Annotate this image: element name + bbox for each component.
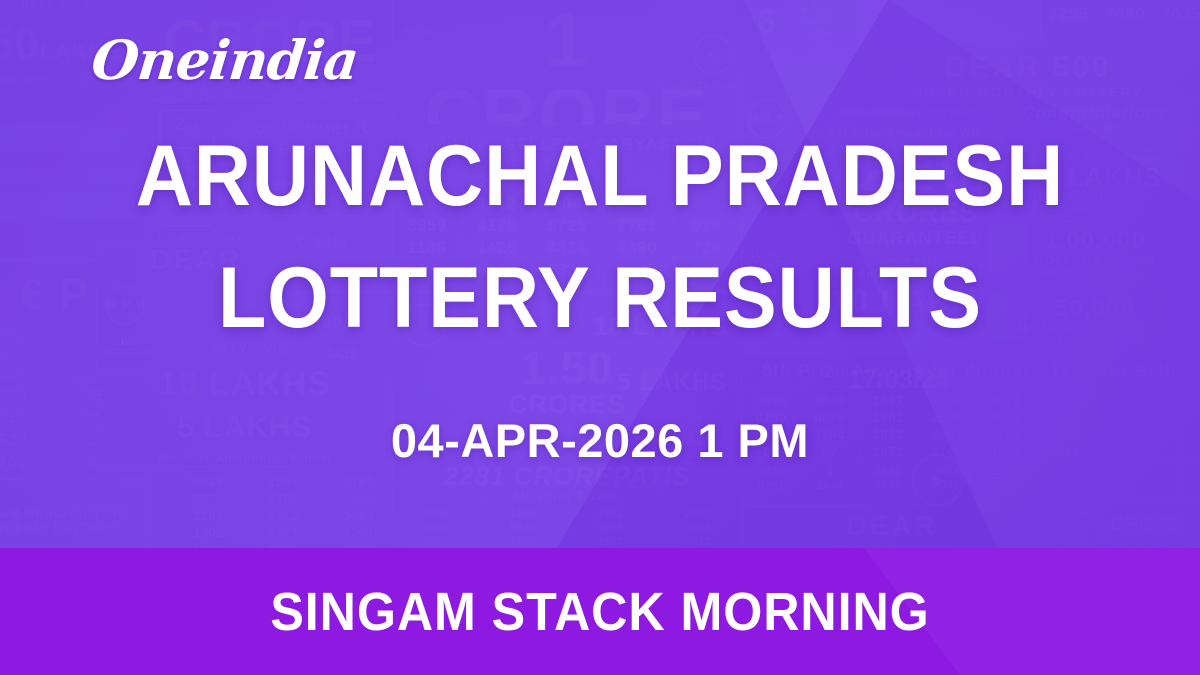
banner-content: Oneindia ARUNACHAL PRADESH LOTTERY RESUL… [0, 0, 1200, 548]
result-datetime: 04-APR-2026 1 PM [0, 413, 1200, 468]
page-title-line2: LOTTERY RESULTS [48, 255, 1152, 341]
lottery-name-title: SINGAM STACK MORNING [42, 548, 1158, 675]
oneindia-logo[interactable]: Oneindia [89, 28, 361, 92]
page-title-line1: ARUNACHAL PRADESH [48, 133, 1152, 219]
lottery-result-banner: DEAR 2023 50LAKHS GOVERNMENT LOTTERIES 6… [0, 0, 1200, 675]
bottom-title-bar: SINGAM STACK MORNING [0, 548, 1200, 675]
